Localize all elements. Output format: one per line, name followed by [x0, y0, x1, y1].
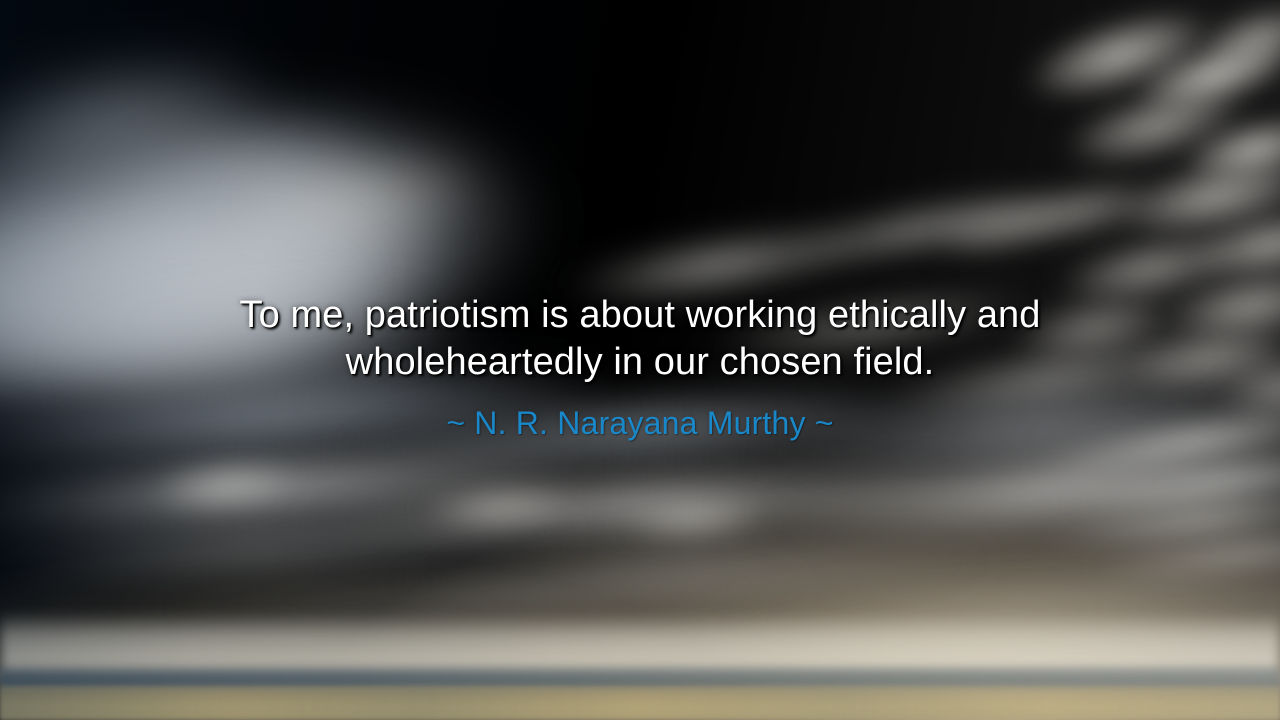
quote-overlay: To me, patriotism is about working ethic… [190, 292, 1090, 442]
quote-attribution: ~ N. R. Narayana Murthy ~ [190, 404, 1090, 442]
quote-card-stage: To me, patriotism is about working ethic… [0, 0, 1280, 720]
quote-line-1: To me, patriotism is about working ethic… [190, 292, 1090, 339]
quote-line-2: wholeheartedly in our chosen field. [190, 339, 1090, 386]
